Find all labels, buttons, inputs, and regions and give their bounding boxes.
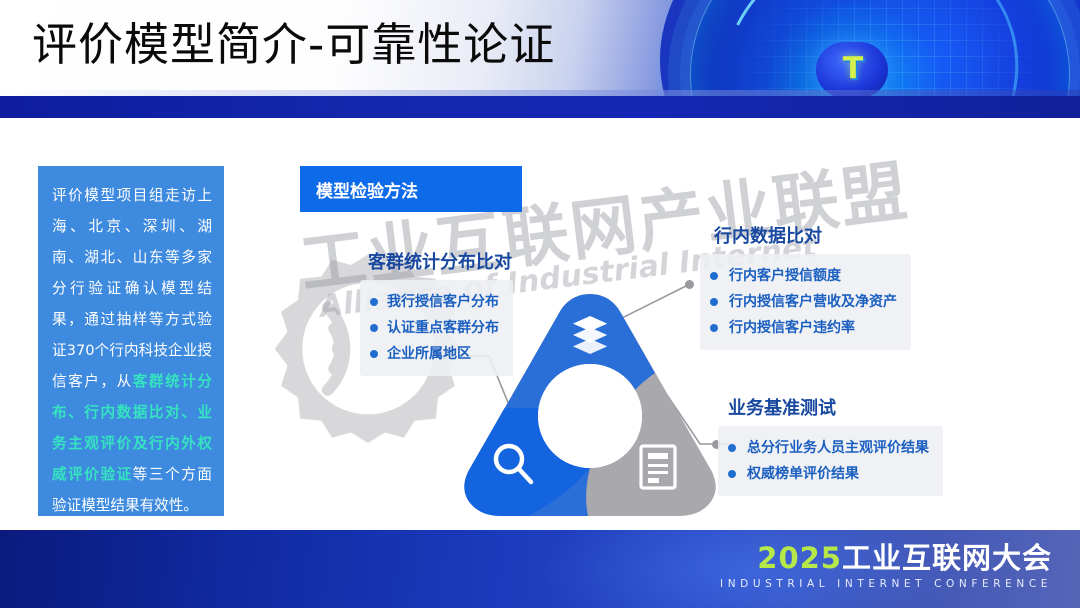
- list-item-label: 行内授信客户营收及净资产: [729, 289, 897, 315]
- list-item: 认证重点客群分布: [370, 315, 499, 341]
- group-business-panel: 总分行业务人员主观评价结果 权威榜单评价结果: [718, 426, 943, 496]
- group-internal-panel: 行内客户授信额度 行内授信客户营收及净资产 行内授信客户违约率: [700, 254, 911, 350]
- bullet-icon: [370, 298, 378, 306]
- group-business-title: 业务基准测试: [728, 394, 943, 420]
- list-item-label: 我行授信客户分布: [387, 289, 499, 315]
- section-tag: 模型检验方法: [300, 166, 522, 212]
- bullet-icon: [728, 444, 736, 452]
- list-item-label: 认证重点客群分布: [387, 315, 499, 341]
- group-customer-distribution: 客群统计分布比对 我行授信客户分布 认证重点客群分布 企业所属地区: [360, 248, 513, 376]
- bullet-icon: [370, 350, 378, 358]
- conference-name-en: INDUSTRIAL INTERNET CONFERENCE: [720, 578, 1052, 590]
- slide-header: T 评价模型简介-可靠性论证: [0, 0, 1080, 118]
- list-item-label: 行内客户授信额度: [729, 263, 841, 289]
- summary-paragraph: 评价模型项目组走访上海、北京、深圳、湖南、湖北、山东等多家分行验证确认模型结果，…: [52, 180, 212, 521]
- group-business-benchmark: 业务基准测试 总分行业务人员主观评价结果 权威榜单评价结果: [718, 394, 943, 496]
- list-item-label: 总分行业务人员主观评价结果: [747, 435, 929, 461]
- list-item-label: 行内授信客户违约率: [729, 315, 855, 341]
- bullet-icon: [710, 324, 718, 332]
- conference-brand: 2025工业互联网大会 INDUSTRIAL INTERNET CONFEREN…: [720, 543, 1052, 590]
- group-internal-title: 行内数据比对: [714, 222, 911, 248]
- header-band: [0, 96, 1080, 118]
- left-edge-spacer: [0, 118, 3, 530]
- section-tag-label: 模型检验方法: [316, 177, 418, 202]
- list-item: 行内授信客户违约率: [710, 315, 897, 341]
- layers-icon: [573, 316, 607, 354]
- slide-root: T 评价模型简介-可靠性论证 工业互联网产业联盟 Alliance of Ind…: [0, 0, 1080, 608]
- list-item: 权威榜单评价结果: [728, 461, 929, 487]
- summary-text-part1: 评价模型项目组走访上海、北京、深圳、湖南、湖北、山东等多家分行验证确认模型结果，…: [52, 187, 212, 390]
- group-customer-title: 客群统计分布比对: [368, 248, 513, 274]
- list-item: 行内客户授信额度: [710, 263, 897, 289]
- bullet-icon: [728, 470, 736, 478]
- conference-brand-main: 2025工业互联网大会: [720, 543, 1052, 573]
- page-title: 评价模型简介-可靠性论证: [32, 20, 555, 70]
- group-customer-panel: 我行授信客户分布 认证重点客群分布 企业所属地区: [360, 280, 513, 376]
- group-internal-data: 行内数据比对 行内客户授信额度 行内授信客户营收及净资产 行内授信客户违约率: [700, 222, 911, 350]
- list-item-label: 企业所属地区: [387, 341, 471, 367]
- bullet-icon: [710, 298, 718, 306]
- bullet-icon: [370, 324, 378, 332]
- list-item: 总分行业务人员主观评价结果: [728, 435, 929, 461]
- summary-text-box: 评价模型项目组走访上海、北京、深圳、湖南、湖北、山东等多家分行验证确认模型结果，…: [38, 166, 224, 516]
- list-item: 行内授信客户营收及净资产: [710, 289, 897, 315]
- bullet-icon: [710, 272, 718, 280]
- t-logo-letter: T: [843, 54, 861, 84]
- conference-name-cn: 工业互联网大会: [842, 541, 1052, 575]
- list-item-label: 权威榜单评价结果: [747, 461, 859, 487]
- slide-footer: 2025工业互联网大会 INDUSTRIAL INTERNET CONFEREN…: [0, 530, 1080, 608]
- list-item: 我行授信客户分布: [370, 289, 499, 315]
- conference-year: 2025: [757, 541, 842, 575]
- list-item: 企业所属地区: [370, 341, 499, 367]
